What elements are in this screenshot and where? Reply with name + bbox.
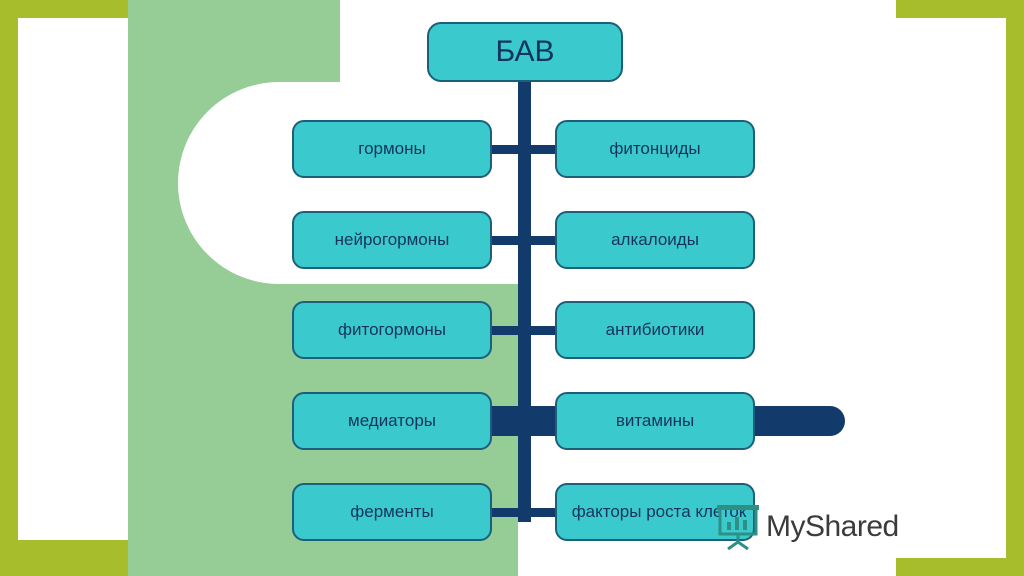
- frame-bar-top-right: [896, 0, 1024, 18]
- node-phytohormones[interactable]: фитогормоны: [292, 301, 492, 359]
- node-label: гормоны: [358, 139, 426, 159]
- node-label: витамины: [616, 411, 694, 431]
- frame-bar-bottom-right: [896, 558, 1024, 576]
- node-neurohormones[interactable]: нейрогормоны: [292, 211, 492, 269]
- watermark-label: MyShared: [766, 510, 899, 544]
- node-hormones[interactable]: гормоны: [292, 120, 492, 178]
- node-label: антибиотики: [606, 320, 705, 340]
- frame-bar-left: [0, 0, 18, 558]
- myshared-watermark: MyShared: [716, 504, 899, 550]
- node-label: ферменты: [350, 502, 433, 522]
- node-label: алкалоиды: [611, 230, 699, 250]
- node-enzymes[interactable]: ферменты: [292, 483, 492, 541]
- slide-canvas: БАВ гормоны нейрогормоны фитогормоны мед…: [0, 0, 1024, 576]
- node-antibiotics[interactable]: антибиотики: [555, 301, 755, 359]
- frame-bar-right: [1006, 0, 1024, 576]
- node-label: фитогормоны: [338, 320, 446, 340]
- node-alkaloids[interactable]: алкалоиды: [555, 211, 755, 269]
- node-root-bav[interactable]: БАВ: [427, 22, 623, 82]
- node-label: нейрогормоны: [335, 230, 450, 250]
- node-label: фитонциды: [609, 139, 700, 159]
- node-root-label: БАВ: [495, 35, 554, 69]
- presentation-board-icon: [716, 504, 760, 550]
- node-mediators[interactable]: медиаторы: [292, 392, 492, 450]
- node-vitamins[interactable]: витамины: [555, 392, 755, 450]
- connector-trunk-vertical: [518, 72, 531, 522]
- node-phytoncides[interactable]: фитонциды: [555, 120, 755, 178]
- node-label: медиаторы: [348, 411, 436, 431]
